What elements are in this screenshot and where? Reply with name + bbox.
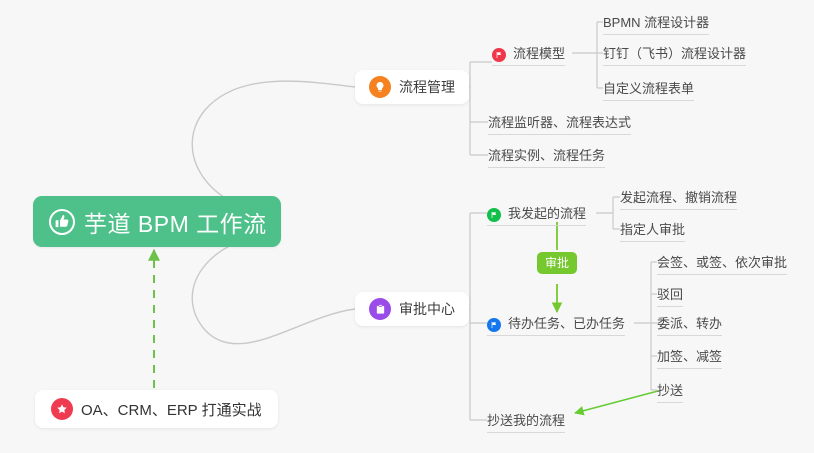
link-root-to-approval-center bbox=[192, 232, 355, 344]
node-cc-to-me-process[interactable]: 抄送我的流程 bbox=[487, 407, 565, 433]
flag-icon bbox=[492, 48, 506, 62]
node-process-model-label: 流程模型 bbox=[513, 46, 565, 62]
node-carbon-copy[interactable]: 抄送 bbox=[657, 377, 683, 403]
clipboard-icon bbox=[369, 298, 391, 320]
node-integration-practice[interactable]: OA、CRM、ERP 打通实战 bbox=[35, 390, 278, 428]
thumbs-up-icon bbox=[49, 209, 75, 235]
node-todo-done-tasks-label: 待办任务、已办任务 bbox=[508, 316, 625, 332]
node-reject[interactable]: 驳回 bbox=[657, 281, 683, 307]
mindmap-canvas: 芋道 BPM 工作流 流程管理 流程模型 BPMN 流程设计器 钉钉（飞书）流程… bbox=[0, 0, 814, 453]
node-custom-process-form-label: 自定义流程表单 bbox=[603, 81, 694, 97]
star-icon bbox=[51, 398, 73, 420]
node-dingtalk-feishu-designer-label: 钉钉（飞书）流程设计器 bbox=[603, 46, 746, 62]
root-node[interactable]: 芋道 BPM 工作流 bbox=[33, 196, 281, 247]
node-dingtalk-feishu-designer[interactable]: 钉钉（飞书）流程设计器 bbox=[603, 40, 746, 66]
node-assignee-approval[interactable]: 指定人审批 bbox=[620, 216, 685, 242]
node-process-listener-expression[interactable]: 流程监听器、流程表达式 bbox=[488, 109, 631, 135]
node-counter-or-sequential-sign-label: 会签、或签、依次审批 bbox=[657, 255, 787, 271]
carbon-copy-flow-arrow bbox=[575, 391, 658, 413]
flag-icon bbox=[487, 318, 501, 332]
node-my-initiated-process[interactable]: 我发起的流程 bbox=[487, 200, 586, 226]
flag-icon bbox=[487, 208, 501, 222]
node-counter-or-sequential-sign[interactable]: 会签、或签、依次审批 bbox=[657, 249, 787, 275]
node-assignee-approval-label: 指定人审批 bbox=[620, 222, 685, 238]
node-process-model[interactable]: 流程模型 bbox=[492, 40, 565, 66]
node-add-remove-sign[interactable]: 加签、减签 bbox=[657, 343, 722, 369]
node-my-initiated-process-label: 我发起的流程 bbox=[508, 206, 586, 222]
link-root-to-process-management bbox=[192, 81, 355, 215]
node-add-remove-sign-label: 加签、减签 bbox=[657, 349, 722, 365]
node-carbon-copy-label: 抄送 bbox=[657, 383, 683, 399]
node-todo-done-tasks[interactable]: 待办任务、已办任务 bbox=[487, 310, 625, 336]
node-process-management-label: 流程管理 bbox=[399, 77, 455, 97]
approval-flow-badge-label: 审批 bbox=[545, 256, 569, 270]
node-process-instance-task-label: 流程实例、流程任务 bbox=[488, 148, 605, 164]
node-process-instance-task[interactable]: 流程实例、流程任务 bbox=[488, 142, 605, 168]
node-approval-center[interactable]: 审批中心 bbox=[355, 292, 469, 326]
node-bpmn-designer[interactable]: BPMN 流程设计器 bbox=[603, 9, 709, 35]
node-cc-to-me-process-label: 抄送我的流程 bbox=[487, 413, 565, 429]
root-label: 芋道 BPM 工作流 bbox=[84, 205, 267, 239]
node-custom-process-form[interactable]: 自定义流程表单 bbox=[603, 75, 694, 101]
node-delegate-transfer[interactable]: 委派、转办 bbox=[657, 310, 722, 336]
node-delegate-transfer-label: 委派、转办 bbox=[657, 316, 722, 332]
node-reject-label: 驳回 bbox=[657, 287, 683, 303]
lightbulb-icon bbox=[369, 76, 391, 98]
approval-flow-badge: 审批 bbox=[537, 252, 577, 274]
node-process-listener-expression-label: 流程监听器、流程表达式 bbox=[488, 115, 631, 131]
node-start-cancel-process-label: 发起流程、撤销流程 bbox=[620, 190, 737, 206]
node-start-cancel-process[interactable]: 发起流程、撤销流程 bbox=[620, 184, 737, 210]
node-process-management[interactable]: 流程管理 bbox=[355, 70, 469, 104]
node-approval-center-label: 审批中心 bbox=[399, 299, 455, 319]
node-integration-practice-label: OA、CRM、ERP 打通实战 bbox=[81, 399, 262, 420]
node-bpmn-designer-label: BPMN 流程设计器 bbox=[603, 15, 709, 31]
